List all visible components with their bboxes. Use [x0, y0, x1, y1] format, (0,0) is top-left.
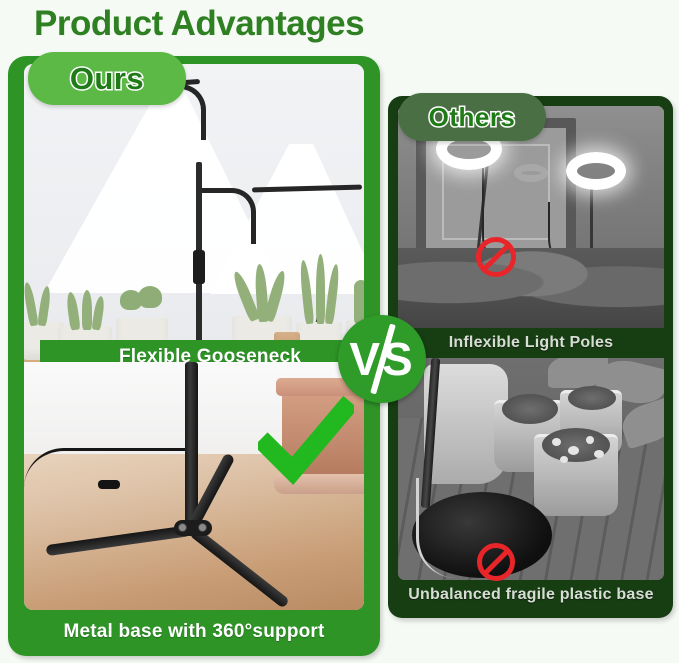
- lamp-gooseneck-lower: [200, 188, 256, 244]
- ours-panel: Flexible Gooseneck Metal base with 360°s…: [8, 56, 380, 656]
- pot-soil: [502, 394, 558, 424]
- power-cord: [416, 478, 472, 578]
- caption-metal-base: Metal base with 360°support: [18, 612, 370, 652]
- others-panel: Inflexible Light Poles Unbalanc: [388, 96, 673, 618]
- badge-others-label: Others: [429, 102, 516, 133]
- plant-leaf: [24, 282, 39, 327]
- gravel-stone: [552, 438, 561, 446]
- desk-scene: [24, 64, 364, 382]
- houseplant-foliage: [398, 248, 664, 328]
- green-check-icon: [258, 396, 354, 492]
- plant-leaf: [37, 286, 51, 327]
- versus-badge: VS: [338, 315, 426, 403]
- badge-ours-label: Ours: [70, 61, 144, 97]
- others-photo-plastic-base: [398, 358, 664, 580]
- gravel-stone: [594, 450, 604, 458]
- ours-photo-gooseneck: Flexible Gooseneck: [24, 64, 364, 382]
- cactus-arm: [65, 291, 80, 330]
- gravel-stone: [586, 436, 594, 444]
- stand-pole: [185, 362, 198, 530]
- caption-text: Metal base with 360°support: [63, 621, 324, 643]
- pot-soil: [568, 386, 616, 410]
- ring-light-head: [566, 152, 626, 190]
- gravel-stone: [568, 446, 579, 455]
- badge-ours: Ours: [28, 52, 186, 105]
- cactus-column: [316, 254, 325, 324]
- red-prohibition-icon: [476, 237, 516, 277]
- hub-screw: [178, 523, 187, 532]
- caption-unbalanced-plastic-base: Unbalanced fragile plastic base: [398, 580, 664, 610]
- hub-screw: [198, 523, 207, 532]
- lamp-height-joint: [193, 250, 205, 284]
- succulent-rosette: [138, 286, 162, 308]
- badge-others: Others: [398, 93, 546, 141]
- plastic-base-scene: [398, 358, 664, 580]
- cactus-arm: [82, 290, 92, 330]
- caption-inflexible-light-poles: Inflexible Light Poles: [398, 328, 664, 358]
- gravel-stone: [560, 456, 568, 463]
- page-title: Product Advantages: [34, 4, 364, 44]
- inline-cord-switch: [98, 480, 120, 489]
- caption-text: Inflexible Light Poles: [449, 334, 613, 352]
- caption-text: Unbalanced fragile plastic base: [408, 586, 653, 604]
- red-prohibition-icon: [477, 543, 515, 581]
